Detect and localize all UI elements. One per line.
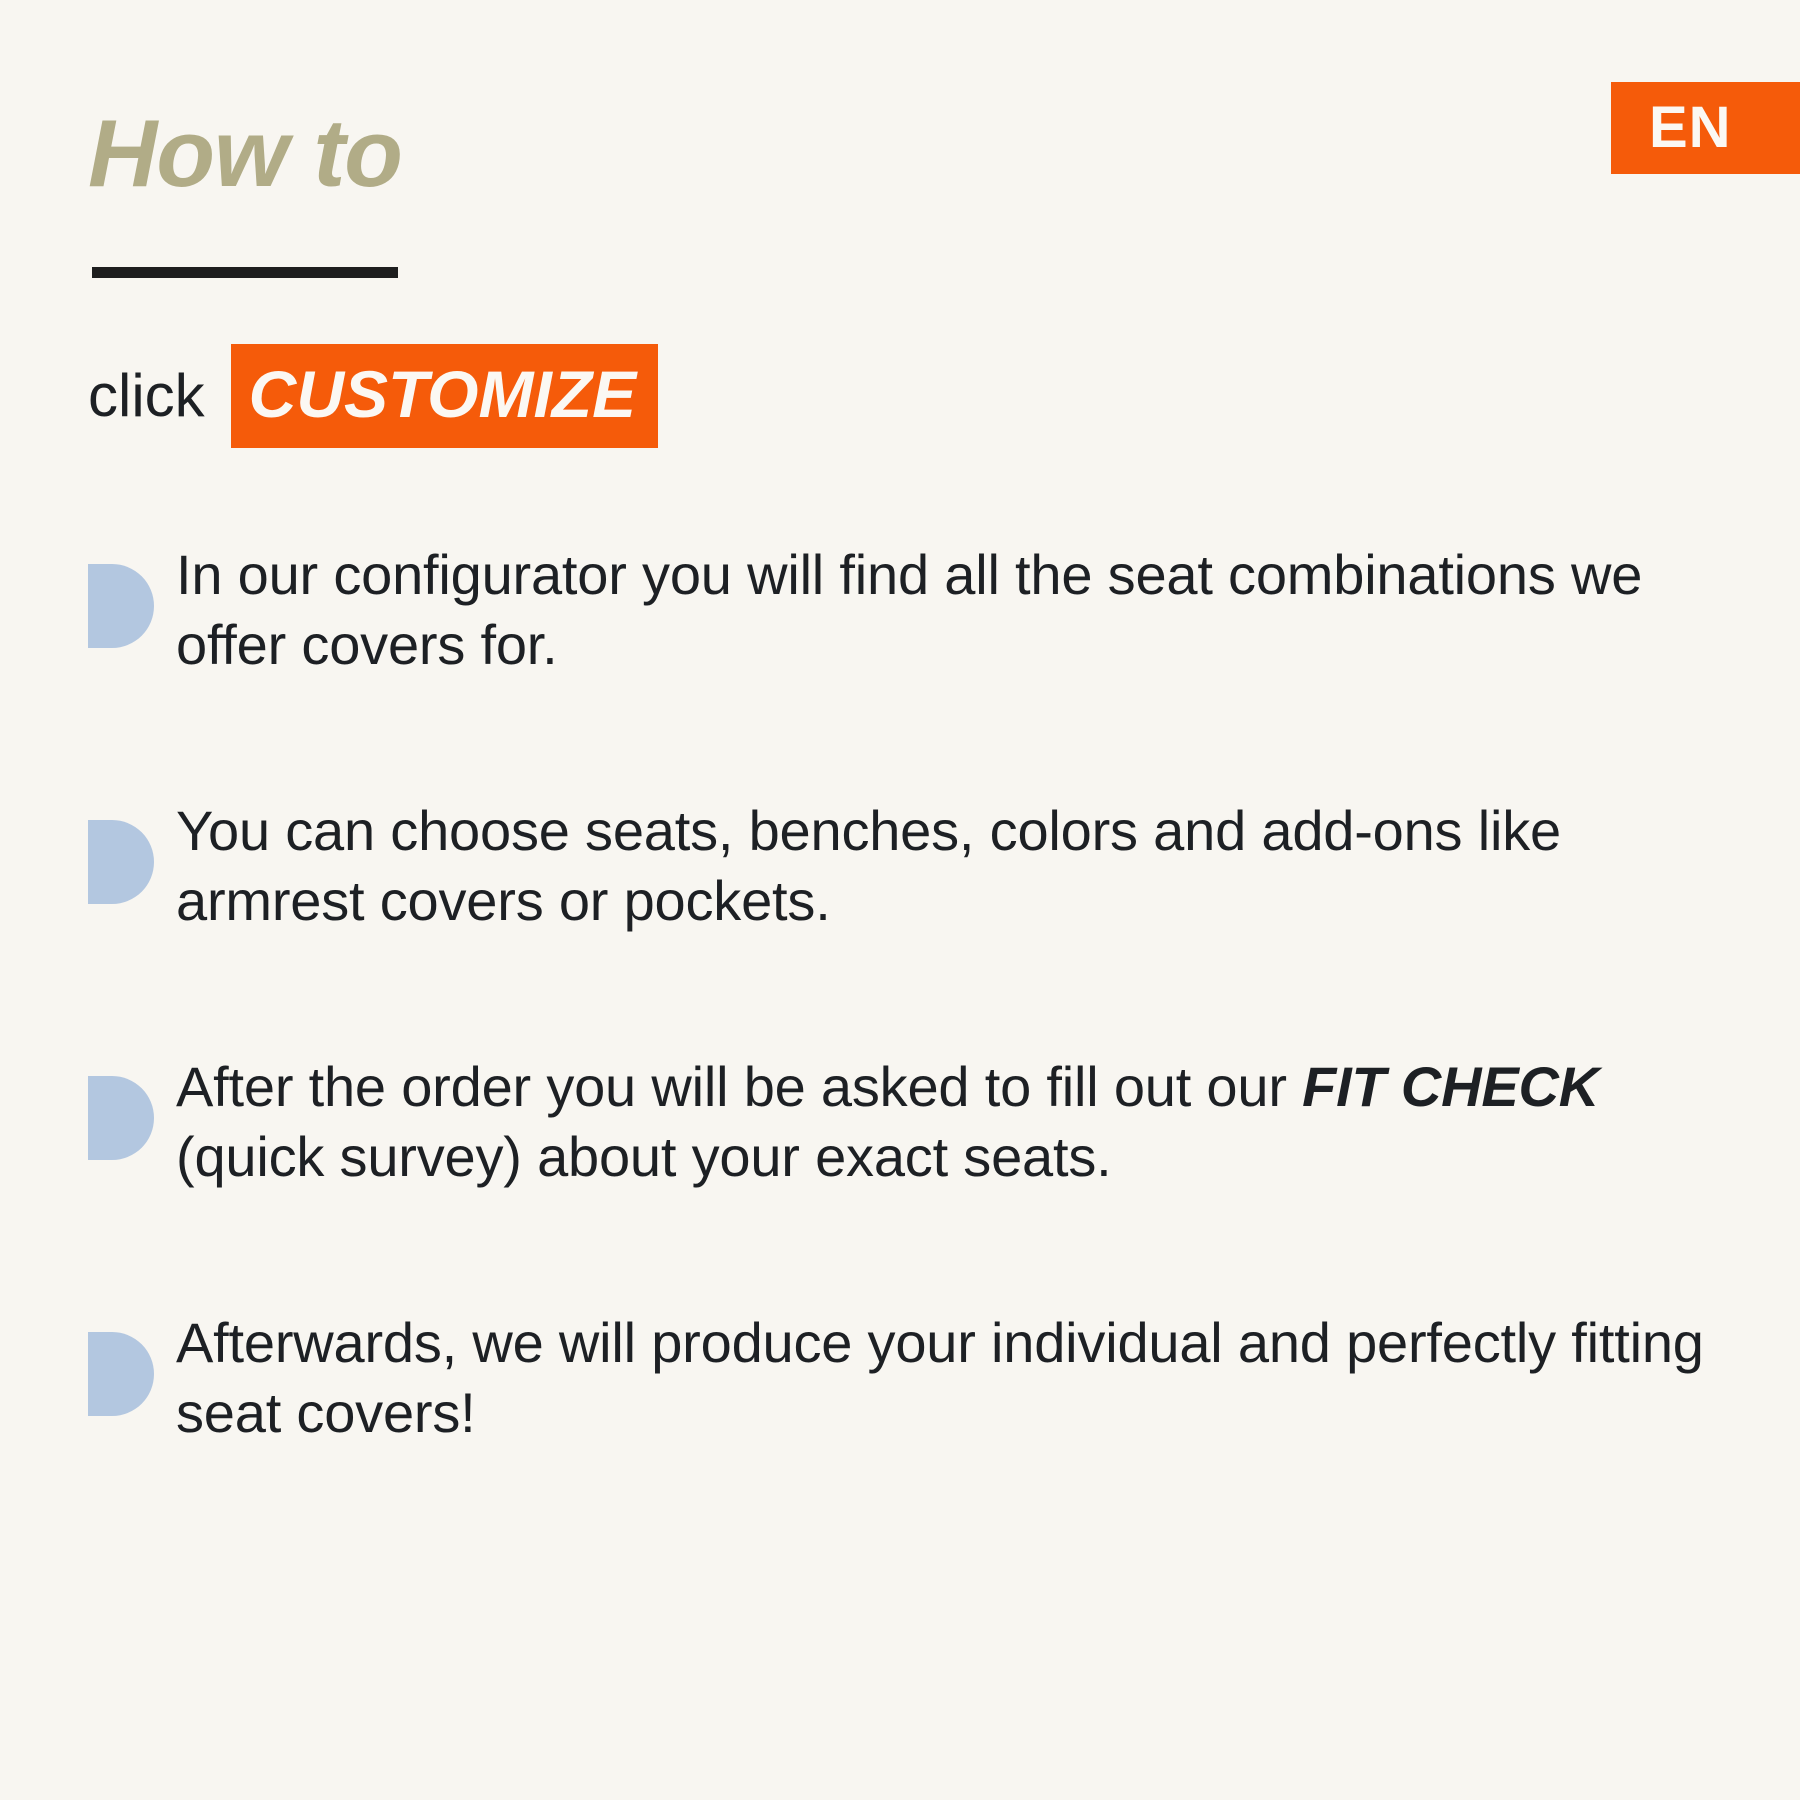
- header: How to: [88, 104, 402, 205]
- cta-instruction: click CUSTOMIZE: [88, 348, 658, 444]
- list-item-text: In our configurator you will find all th…: [176, 540, 1728, 680]
- bullet-d-shape-icon: [88, 820, 154, 904]
- list-item: After the order you will be asked to fil…: [88, 1052, 1728, 1192]
- cta-prefix-label: click: [88, 366, 205, 426]
- how-to-card: EN How to click CUSTOMIZE In our configu…: [0, 0, 1800, 1800]
- list-item-text: Afterwards, we will produce your individ…: [176, 1308, 1728, 1448]
- bullet-d-shape-icon: [88, 564, 154, 648]
- list-item: Afterwards, we will produce your individ…: [88, 1308, 1728, 1448]
- list-item-segment: After the order you will be asked to fil…: [176, 1055, 1302, 1118]
- language-badge-label: EN: [1649, 99, 1732, 157]
- list-item: In our configurator you will find all th…: [88, 540, 1728, 680]
- bullet-d-shape-icon: [88, 1076, 154, 1160]
- list-item-text: You can choose seats, benches, colors an…: [176, 796, 1728, 936]
- bullet-d-shape-icon: [88, 1332, 154, 1416]
- list-item-emphasis: FIT CHECK: [1302, 1055, 1599, 1118]
- list-item-segment: (quick survey) about your exact seats.: [176, 1125, 1112, 1188]
- list-item-segment: Afterwards, we will produce your individ…: [176, 1311, 1704, 1444]
- list-item-text: After the order you will be asked to fil…: [176, 1052, 1728, 1192]
- customize-button-label[interactable]: CUSTOMIZE: [231, 344, 658, 448]
- steps-list: In our configurator you will find all th…: [88, 540, 1728, 1448]
- page-title: How to: [88, 104, 402, 205]
- list-item: You can choose seats, benches, colors an…: [88, 796, 1728, 936]
- list-item-segment: You can choose seats, benches, colors an…: [176, 799, 1561, 932]
- list-item-segment: In our configurator you will find all th…: [176, 543, 1642, 676]
- title-underline-rule: [92, 267, 398, 278]
- language-badge[interactable]: EN: [1611, 82, 1800, 174]
